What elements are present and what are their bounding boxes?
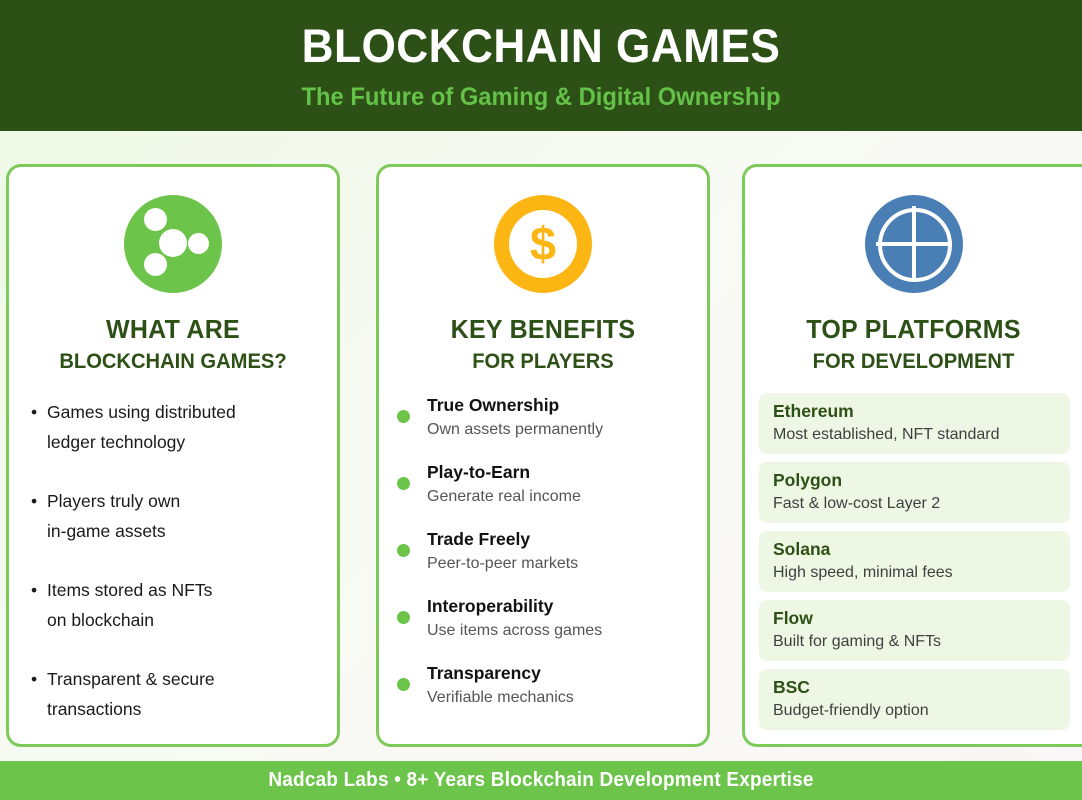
list-item: Interoperability Use items across games: [395, 594, 693, 642]
benefit-description: Own assets permanently: [427, 418, 693, 441]
list-item: Transparency Verifiable mechanics: [395, 661, 693, 709]
platform-description: High speed, minimal fees: [773, 562, 1070, 584]
platform-name: BSC: [773, 676, 1070, 699]
card-1-heading-main: WHAT ARE: [16, 314, 331, 344]
blockchain-network-icon: [124, 195, 222, 293]
bullet-line-2: in-game assets: [47, 516, 319, 546]
list-item: BSC Budget-friendly option: [759, 669, 1070, 730]
platform-name: Flow: [773, 607, 1070, 630]
card-key-benefits: $ KEY BENEFITS FOR PLAYERS True Ownershi…: [376, 164, 710, 747]
dollar-coin-icon: $: [494, 195, 592, 293]
infographic-page: BLOCKCHAIN GAMES The Future of Gaming & …: [0, 0, 1082, 800]
card-what-are-blockchain-games: WHAT ARE BLOCKCHAIN GAMES? Games using d…: [6, 164, 340, 747]
card-1-heading: WHAT ARE BLOCKCHAIN GAMES?: [9, 314, 337, 375]
benefit-title: Play-to-Earn: [427, 460, 693, 484]
bullet-dot-icon: [397, 611, 410, 624]
footer-text: Nadcab Labs • 8+ Years Blockchain Develo…: [268, 769, 813, 792]
bullet-line-2: ledger technology: [47, 427, 319, 457]
platform-description: Built for gaming & NFTs: [773, 631, 1070, 653]
benefit-title: Trade Freely: [427, 527, 693, 551]
list-item: Items stored as NFTs on blockchain: [31, 575, 319, 635]
cards-container: WHAT ARE BLOCKCHAIN GAMES? Games using d…: [0, 164, 1082, 748]
platforms-list: Ethereum Most established, NFT standard …: [745, 393, 1082, 730]
platform-description: Fast & low-cost Layer 2: [773, 493, 1070, 515]
card-icon-wrap: $: [379, 192, 707, 296]
platform-name: Solana: [773, 538, 1070, 561]
benefit-description: Peer-to-peer markets: [427, 552, 693, 575]
card-2-heading-main: KEY BENEFITS: [386, 314, 701, 344]
benefit-description: Generate real income: [427, 485, 693, 508]
dollar-sign-glyph: $: [530, 220, 556, 267]
node-top-left: [144, 208, 167, 231]
list-item: Games using distributed ledger technolog…: [31, 397, 319, 457]
benefit-title: True Ownership: [427, 393, 693, 417]
bullet-dot-icon: [397, 410, 410, 423]
page-title: BLOCKCHAIN GAMES: [32, 0, 1049, 73]
list-item: True Ownership Own assets permanently: [395, 393, 693, 441]
bullet-line-2: on blockchain: [47, 605, 319, 635]
node-bottom-left: [144, 253, 167, 276]
page-subtitle: The Future of Gaming & Digital Ownership: [27, 73, 1055, 112]
node-right: [188, 233, 209, 254]
card-3-heading-main: TOP PLATFORMS: [752, 314, 1076, 344]
card-3-heading-sub: FOR DEVELOPMENT: [752, 349, 1076, 375]
benefit-title: Interoperability: [427, 594, 693, 618]
card-icon-wrap: [745, 192, 1082, 296]
card-icon-wrap: [9, 192, 337, 296]
list-item: Play-to-Earn Generate real income: [395, 460, 693, 508]
list-item: Transparent & secure transactions: [31, 664, 319, 724]
platform-description: Most established, NFT standard: [773, 424, 1070, 446]
bullet-line-2: transactions: [47, 694, 319, 724]
bullet-dot-icon: [397, 477, 410, 490]
bullet-line-1: Players truly own: [47, 491, 180, 511]
card-2-heading: KEY BENEFITS FOR PLAYERS: [379, 314, 707, 375]
list-item: Polygon Fast & low-cost Layer 2: [759, 462, 1070, 523]
benefits-list: True Ownership Own assets permanently Pl…: [379, 393, 707, 709]
list-item: Players truly own in-game assets: [31, 486, 319, 546]
list-item: Ethereum Most established, NFT standard: [759, 393, 1070, 454]
list-item: Solana High speed, minimal fees: [759, 531, 1070, 592]
benefit-description: Verifiable mechanics: [427, 686, 693, 709]
platform-description: Budget-friendly option: [773, 700, 1070, 722]
card-top-platforms: TOP PLATFORMS FOR DEVELOPMENT Ethereum M…: [742, 164, 1082, 747]
card-2-heading-sub: FOR PLAYERS: [386, 349, 701, 375]
card-1-heading-sub: BLOCKCHAIN GAMES?: [16, 349, 331, 375]
bullet-line-1: Games using distributed: [47, 402, 236, 422]
bullet-dot-icon: [397, 544, 410, 557]
globe-icon: [865, 195, 963, 293]
platform-name: Ethereum: [773, 400, 1070, 423]
card-3-heading: TOP PLATFORMS FOR DEVELOPMENT: [745, 314, 1082, 375]
footer-banner: Nadcab Labs • 8+ Years Blockchain Develo…: [0, 761, 1082, 800]
node-center: [159, 229, 187, 257]
list-item: Trade Freely Peer-to-peer markets: [395, 527, 693, 575]
blockchain-games-bullet-list: Games using distributed ledger technolog…: [9, 397, 337, 724]
globe-equator: [876, 242, 952, 246]
platform-name: Polygon: [773, 469, 1070, 492]
benefit-description: Use items across games: [427, 619, 693, 642]
benefit-title: Transparency: [427, 661, 693, 685]
bullet-dot-icon: [397, 678, 410, 691]
list-item: Flow Built for gaming & NFTs: [759, 600, 1070, 661]
bullet-line-1: Items stored as NFTs: [47, 580, 212, 600]
bullet-line-1: Transparent & secure: [47, 669, 215, 689]
header-banner: BLOCKCHAIN GAMES The Future of Gaming & …: [0, 0, 1082, 131]
